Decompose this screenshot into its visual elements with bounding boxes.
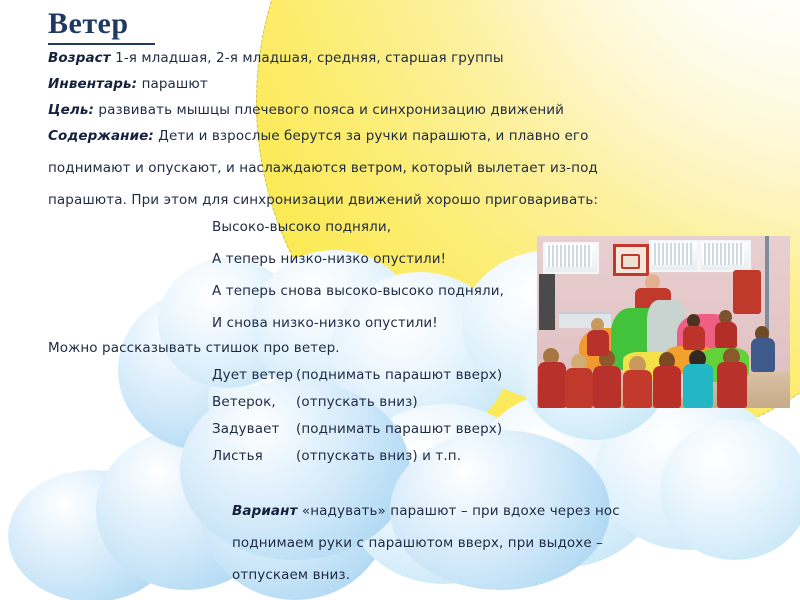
photo-shelf	[539, 274, 555, 330]
gym-parachute-photo	[537, 236, 790, 408]
verse-line: А теперь снова высоко-высоко подняли,	[212, 283, 504, 299]
photo-child	[587, 330, 609, 356]
photo-child	[653, 366, 681, 408]
chant-word: Дует ветер	[212, 367, 296, 383]
cloud-puff	[8, 470, 176, 600]
chant-action: (отпускать вниз) и т.п.	[296, 448, 461, 464]
chant-row: Задувает(поднимать парашют вверх)	[212, 421, 502, 437]
content-first-line: Содержание: Дети и взрослые берутся за р…	[48, 128, 588, 144]
verse-line: А теперь низко-низко опустили!	[212, 251, 446, 267]
cloud-puff	[660, 420, 800, 560]
field-age: Возраст 1-я младшая, 2-я младшая, средня…	[48, 50, 504, 66]
photo-window-blinds	[702, 243, 744, 265]
field-age-value: 1-я младшая, 2-я младшая, средняя, старш…	[115, 50, 504, 66]
photo-child	[538, 362, 566, 408]
content-label: Содержание:	[48, 128, 154, 144]
photo-child	[717, 362, 747, 408]
chant-word: Ветерок,	[212, 394, 296, 410]
photo-child	[565, 368, 593, 408]
field-goal-label: Цель:	[48, 102, 94, 118]
field-equipment-label: Инвентарь:	[48, 76, 137, 92]
chant-row: Листья(отпускать вниз) и т.п.	[212, 448, 461, 464]
variant-line-1: «надувать» парашют – при вдохе через нос	[302, 503, 620, 519]
photo-child	[683, 326, 705, 350]
chant-row: Дует ветер(поднимать парашют вверх)	[212, 367, 502, 383]
chant-action: (поднимать парашют вверх)	[296, 421, 502, 437]
variant-line-3: отпускаем вниз.	[232, 567, 350, 583]
field-goal-value: развивать мышцы плечевого пояса и синхро…	[98, 102, 564, 118]
verse-line: Высоко-высоко подняли,	[212, 219, 391, 235]
photo-wall-pad	[733, 270, 761, 314]
photo-child	[715, 322, 737, 348]
chant-word: Задувает	[212, 421, 296, 437]
chant-row: Ветерок,(отпускать вниз)	[212, 394, 418, 410]
verse-line: И снова низко-низко опустили!	[212, 315, 438, 331]
content-line-3: парашюта. При этом для синхронизации дви…	[48, 192, 598, 208]
photo-basketball-hoop	[621, 254, 640, 269]
field-equipment-value: парашют	[142, 76, 208, 92]
chant-word: Листья	[212, 448, 296, 464]
title-underline	[48, 43, 155, 45]
photo-window-blinds	[652, 243, 692, 265]
content-line-1: Дети и взрослые берутся за ручки парашют…	[158, 128, 588, 144]
field-age-label: Возраст	[48, 50, 111, 66]
variant-line-2: поднимаем руки с парашютом вверх, при вы…	[232, 535, 603, 551]
chant-action: (отпускать вниз)	[296, 394, 418, 410]
variant-label: Вариант	[232, 503, 297, 519]
rhyme-intro: Можно рассказывать стишок про ветер.	[48, 340, 340, 356]
photo-child	[593, 366, 621, 408]
chant-action: (поднимать парашют вверх)	[296, 367, 502, 383]
page-title: Ветер	[48, 8, 129, 40]
photo-window-blinds	[546, 245, 592, 267]
slide-canvas: Ветер Возраст 1-я младшая, 2-я младшая, …	[0, 0, 800, 600]
photo-child	[683, 364, 713, 408]
variant-first-line: Вариант «надувать» парашют – при вдохе ч…	[232, 503, 620, 519]
photo-child	[623, 370, 652, 408]
content-line-2: поднимают и опускают, и наслаждаются вет…	[48, 160, 598, 176]
field-goal: Цель: развивать мышцы плечевого пояса и …	[48, 102, 564, 118]
field-equipment: Инвентарь: парашют	[48, 76, 208, 92]
cloud-puff	[596, 392, 781, 550]
photo-child	[751, 338, 775, 372]
